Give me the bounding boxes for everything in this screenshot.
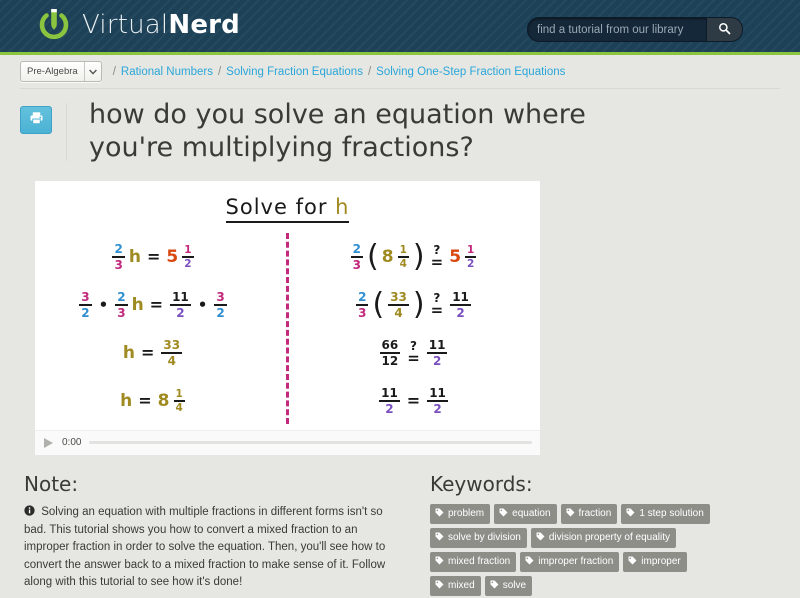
keyword-tag[interactable]: mixed fraction [430,552,516,572]
note-section: Note: Solving an equation with multiple … [24,472,404,596]
search-button[interactable] [706,18,742,41]
whiteboard-title-main: Solve for [226,195,336,223]
keyword-label: division property of equality [549,533,670,543]
print-button[interactable] [20,106,52,134]
equation-right-4: 112 = 112 [291,377,540,425]
keyword-label: problem [448,509,484,519]
tag-icon [566,508,575,520]
keyword-tag[interactable]: problem [430,504,490,524]
logo-text-nerd: Nerd [168,10,240,40]
keyword-label: equation [512,509,550,519]
keyword-tag[interactable]: 1 step solution [621,504,710,524]
breadcrumb-separator-0: / [108,66,121,78]
search-icon [718,22,731,38]
keyword-label: solve by division [448,533,521,543]
logo-text-virtual: Virtual [82,10,168,40]
whiteboard-divider [286,233,289,424]
keyword-label: improper fraction [538,557,613,567]
whiteboard-right-column: 23 (8 14 ) ?= 5 12 23 ( 334 ) ?= 112 661… [291,233,540,425]
search-input[interactable] [528,18,706,41]
equation-left-4: h=8 14 [35,377,285,425]
printer-icon [29,111,44,130]
note-body-wrap: Solving an equation with multiple fracti… [24,504,404,591]
tag-icon [628,556,637,568]
equation-left-3: h= 334 [35,329,285,377]
equation-right-1: 23 (8 14 ) ?= 5 12 [291,233,540,281]
keyword-tag[interactable]: fraction [561,504,618,524]
keyword-tag[interactable]: division property of equality [531,528,676,548]
video-controls[interactable]: 0:00 [35,430,540,455]
play-button[interactable] [43,437,54,449]
site-logo-text: VirtualNerd [82,10,240,40]
equation-right-2: 23 ( 334 ) ?= 112 [291,281,540,329]
equation-left-2: 32 • 23 h= 112 • 32 [35,281,285,329]
tag-icon [435,556,444,568]
video-scrubber[interactable] [89,441,532,444]
power-pencil-logo-icon [35,6,73,44]
search-bar[interactable] [527,17,743,42]
whiteboard-title-variable: h [335,195,349,223]
chevron-down-icon [84,62,101,81]
subject-dropdown[interactable]: Pre-Algebra [20,61,102,82]
keywords-heading: Keywords: [430,472,760,496]
bottom-section: Note: Solving an equation with multiple … [24,472,780,596]
tag-icon [435,580,444,592]
whiteboard-title: Solve for h [35,195,540,219]
breadcrumb-link-solving-one-step-fraction-equations[interactable]: Solving One-Step Fraction Equations [376,66,565,78]
tag-icon [536,532,545,544]
info-icon [24,507,38,519]
keyword-tag[interactable]: improper [623,552,686,572]
equation-right-3: 6612 ?= 112 [291,329,540,377]
tag-icon [490,580,499,592]
site-header: VirtualNerd [0,0,800,55]
title-row: how do you solve an equation where you'r… [20,99,780,165]
keyword-label: fraction [579,509,612,519]
video-whiteboard[interactable]: Solve for h 23 h=5 12 32 • 23 h= 112 • 3… [35,181,540,430]
tag-icon [435,508,444,520]
keyword-tag[interactable]: mixed [430,576,481,596]
breadcrumb-link-rational-numbers[interactable]: Rational Numbers [121,66,213,78]
keyword-tag[interactable]: improper fraction [520,552,619,572]
breadcrumb-separator-2: / [363,66,376,78]
tag-icon [525,556,534,568]
keyword-label: solve [503,581,526,591]
video-time: 0:00 [62,437,81,448]
keyword-label: 1 step solution [639,509,704,519]
page-title: how do you solve an equation where you'r… [67,99,609,165]
breadcrumb-link-solving-fraction-equations[interactable]: Solving Fraction Equations [226,66,363,78]
keywords-list: problem equation fraction 1 step solutio… [430,504,730,596]
play-icon [43,437,54,449]
tag-icon [499,508,508,520]
keyword-label: improper [641,557,680,567]
keyword-tag[interactable]: solve [485,576,532,596]
tag-icon [626,508,635,520]
video-player[interactable]: Solve for h 23 h=5 12 32 • 23 h= 112 • 3… [35,181,540,455]
whiteboard-left-column: 23 h=5 12 32 • 23 h= 112 • 32 h= 334 h=8… [35,233,285,425]
keywords-section: Keywords: problem equation fraction 1 st… [430,472,760,596]
note-heading: Note: [24,472,404,496]
equation-left-1: 23 h=5 12 [35,233,285,281]
tag-icon [435,532,444,544]
site-logo[interactable]: VirtualNerd [35,6,240,44]
breadcrumb-separator-1: / [213,66,226,78]
keyword-label: mixed fraction [448,557,510,567]
keyword-tag[interactable]: equation [494,504,556,524]
breadcrumb: Pre-Algebra / Rational Numbers / Solving… [20,55,780,89]
keyword-label: mixed [448,581,475,591]
note-body: Solving an equation with multiple fracti… [24,506,385,588]
keyword-tag[interactable]: solve by division [430,528,527,548]
subject-dropdown-label: Pre-Algebra [21,62,84,81]
